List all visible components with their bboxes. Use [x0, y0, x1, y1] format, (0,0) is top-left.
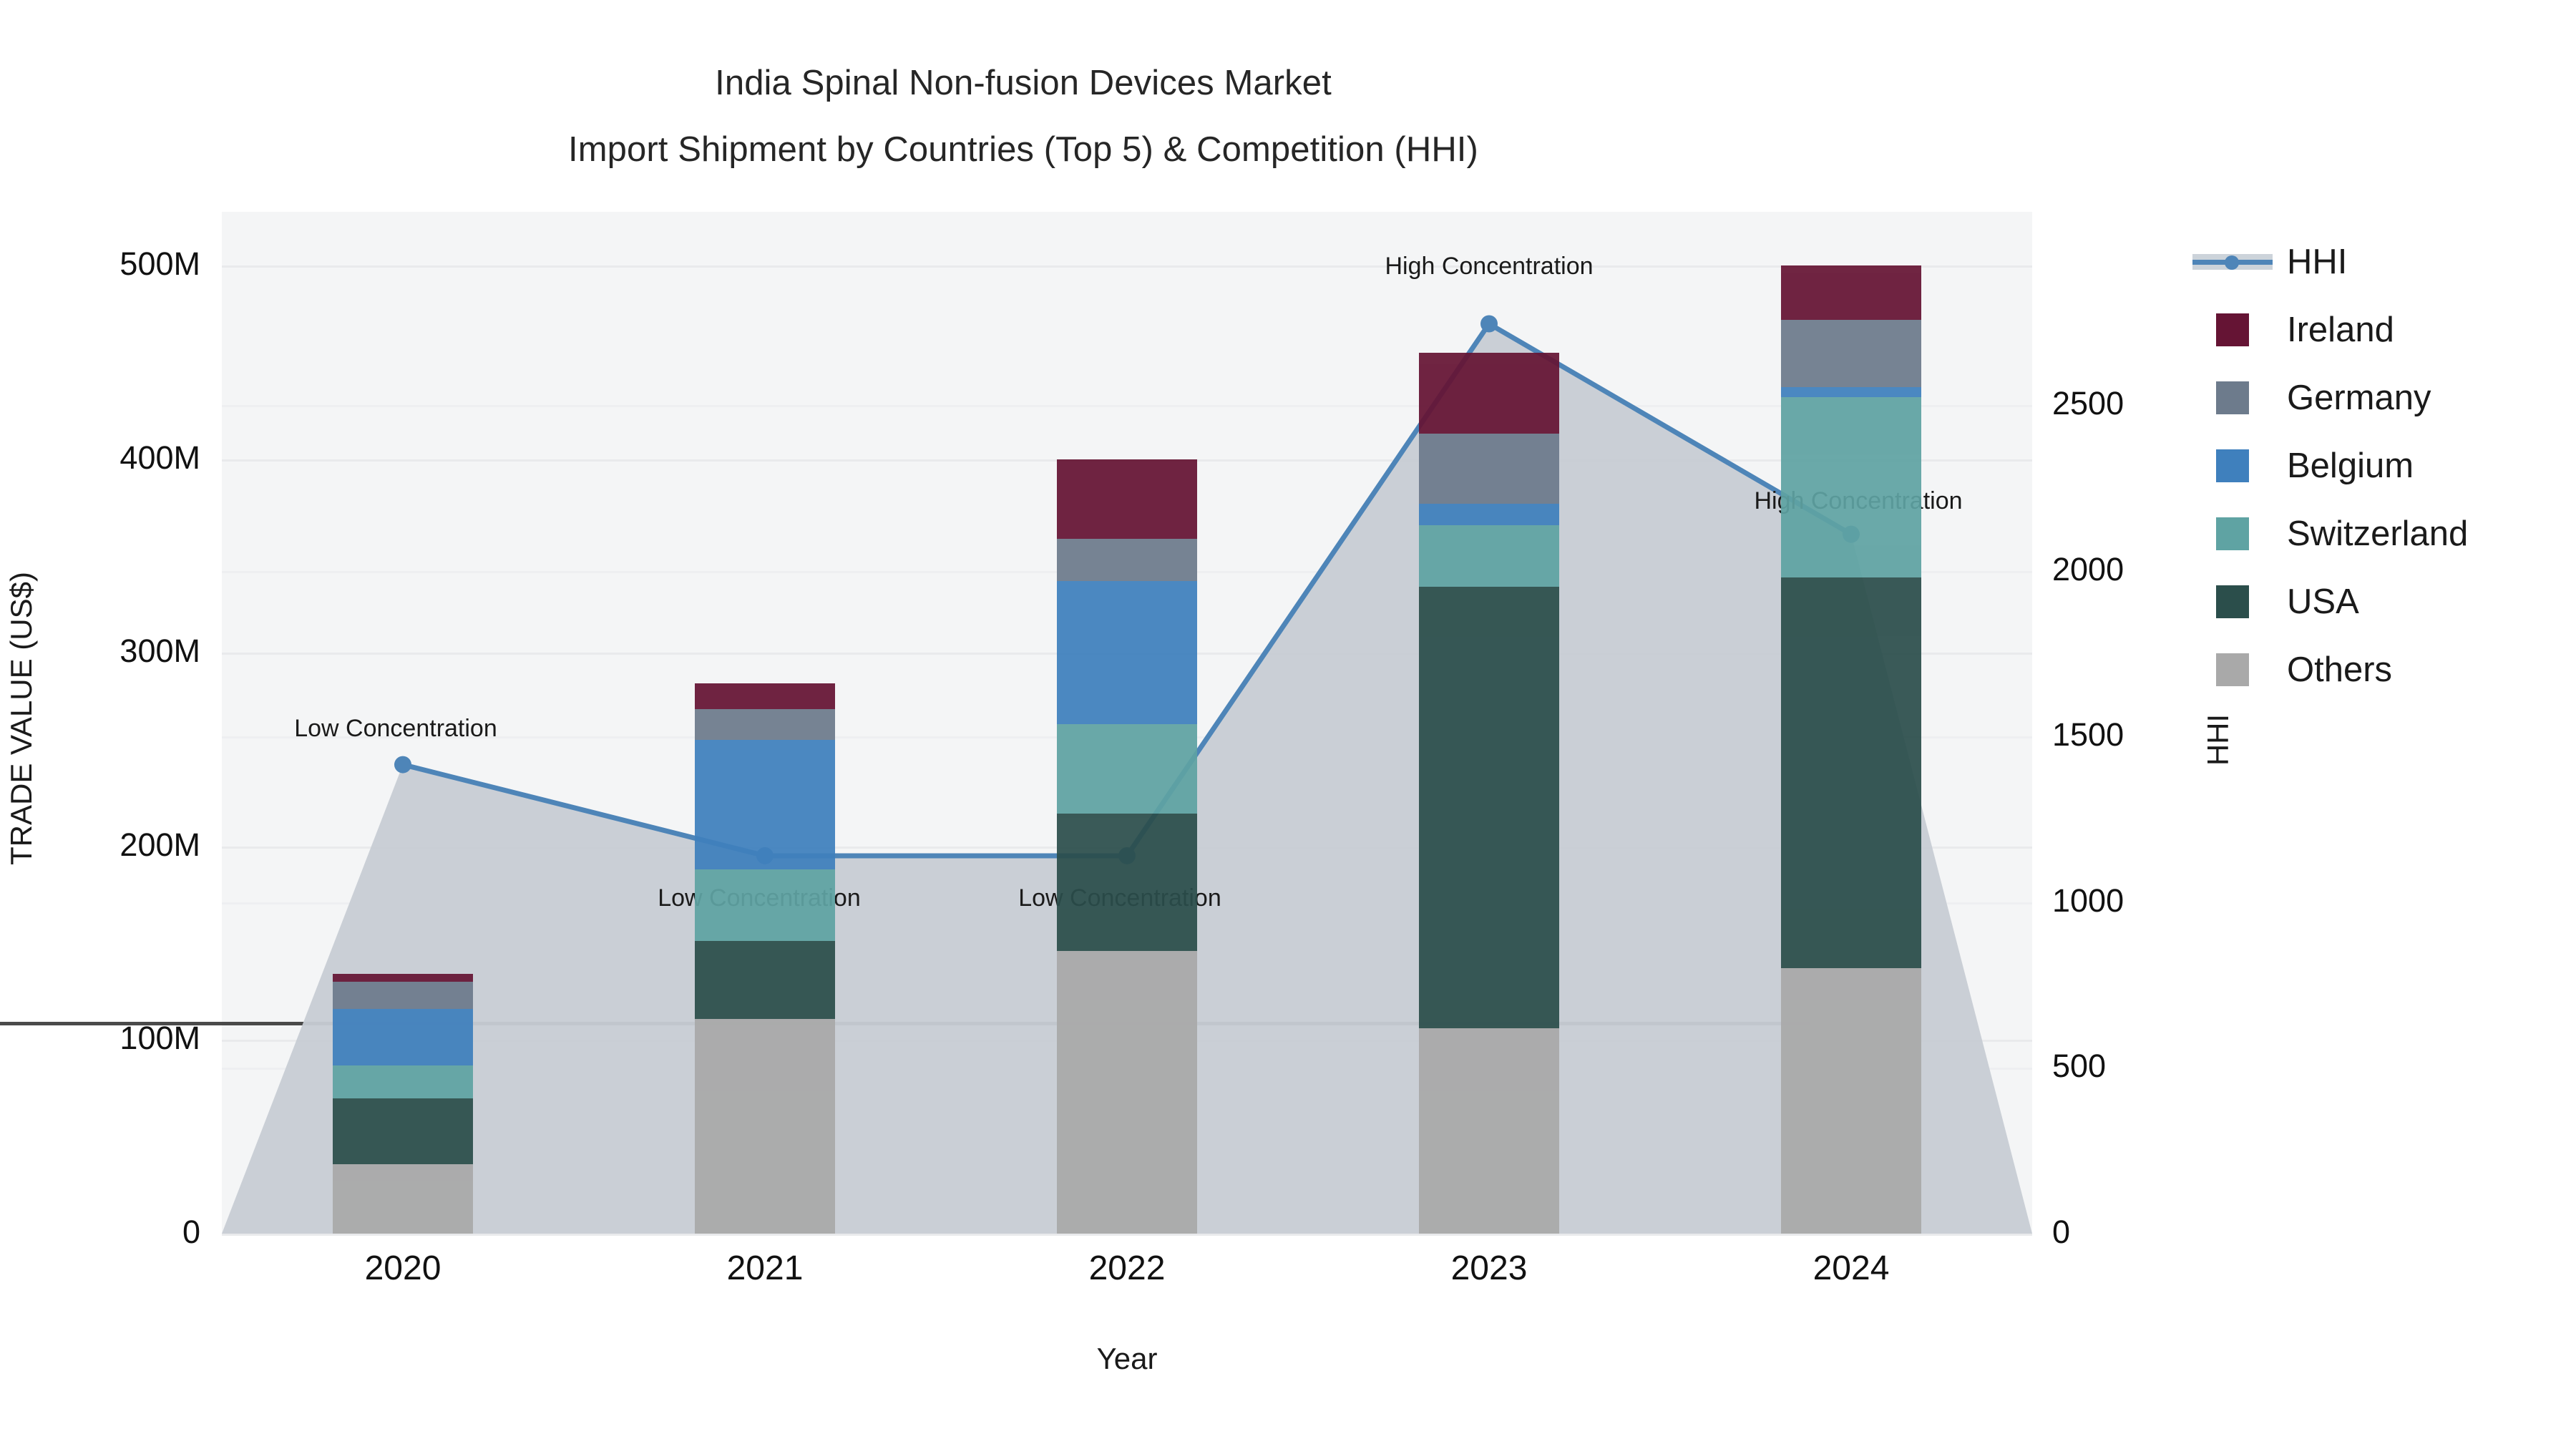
legend-key	[2190, 653, 2275, 686]
bar-segment-ireland[interactable]	[1781, 265, 1921, 320]
legend-label: USA	[2287, 582, 2359, 622]
y-axis-title: TRADE VALUE (US$)	[4, 489, 39, 947]
bar-segment-switzerland[interactable]	[695, 869, 835, 941]
bar-segment-switzerland[interactable]	[1781, 397, 1921, 577]
bar-segment-switzerland[interactable]	[1419, 525, 1559, 587]
legend-label: Germany	[2287, 378, 2431, 418]
bar-segment-germany[interactable]	[695, 709, 835, 740]
legend-swatch-others	[2216, 653, 2249, 686]
legend-item-hhi[interactable]: HHI	[2190, 228, 2468, 296]
gridline-major	[222, 1234, 2032, 1236]
bar-segment-ireland[interactable]	[333, 974, 473, 982]
legend-item-switzerland[interactable]: Switzerland	[2190, 499, 2468, 567]
x-tick-label: 2024	[1744, 1249, 1958, 1288]
legend-swatch-belgium	[2216, 449, 2249, 482]
legend-label: Ireland	[2287, 310, 2394, 350]
bar-segment-others[interactable]	[695, 1019, 835, 1234]
legend-key	[2190, 381, 2275, 414]
y-tick-label: 0	[14, 1214, 200, 1251]
bar-segment-ireland[interactable]	[695, 683, 835, 708]
legend-item-ireland[interactable]: Ireland	[2190, 296, 2468, 364]
legend-key	[2190, 585, 2275, 618]
bar-segment-usa[interactable]	[695, 941, 835, 1018]
y2-tick-label: 500	[2052, 1048, 2238, 1085]
bar-segment-others[interactable]	[1419, 1028, 1559, 1234]
chart-figure: India Spinal Non-fusion Devices Market I…	[0, 0, 2576, 1449]
legend-line-marker	[2225, 255, 2239, 270]
x-tick-label: 2022	[1020, 1249, 1234, 1288]
y-tick-label: 200M	[14, 826, 200, 864]
bar-segment-ireland[interactable]	[1057, 459, 1197, 539]
bar-segment-usa[interactable]	[1057, 814, 1197, 951]
bar-group[interactable]	[333, 0, 473, 1234]
bar-group[interactable]	[1419, 0, 1559, 1234]
chart-title-block: India Spinal Non-fusion Devices Market I…	[0, 50, 2046, 183]
legend-item-belgium[interactable]: Belgium	[2190, 431, 2468, 499]
bar-segment-germany[interactable]	[1419, 434, 1559, 503]
bar-segment-belgium[interactable]	[333, 1009, 473, 1065]
bar-segment-germany[interactable]	[333, 982, 473, 1009]
bar-segment-usa[interactable]	[1419, 587, 1559, 1028]
bar-segment-others[interactable]	[333, 1164, 473, 1234]
legend-line-key	[2192, 245, 2273, 278]
legend-label: Others	[2287, 650, 2392, 690]
y-tick-label: 300M	[14, 633, 200, 670]
legend-label: HHI	[2287, 242, 2347, 282]
legend-item-germany[interactable]: Germany	[2190, 364, 2468, 431]
legend-key	[2190, 313, 2275, 346]
bar-segment-belgium[interactable]	[1419, 504, 1559, 525]
bar-segment-usa[interactable]	[1781, 577, 1921, 969]
legend-item-others[interactable]: Others	[2190, 635, 2468, 703]
y2-tick-label: 0	[2052, 1214, 2238, 1251]
chart-legend: HHIIrelandGermanyBelgiumSwitzerlandUSAOt…	[2190, 228, 2468, 703]
legend-swatch-usa	[2216, 585, 2249, 618]
bar-segment-switzerland[interactable]	[1057, 724, 1197, 813]
bar-segment-belgium[interactable]	[1781, 387, 1921, 397]
legend-swatch-switzerland	[2216, 517, 2249, 550]
bar-segment-germany[interactable]	[1781, 320, 1921, 388]
x-tick-label: 2021	[658, 1249, 872, 1288]
legend-key	[2190, 449, 2275, 482]
legend-item-usa[interactable]: USA	[2190, 567, 2468, 635]
legend-key	[2190, 517, 2275, 550]
bar-segment-others[interactable]	[1057, 951, 1197, 1234]
bar-group[interactable]	[695, 0, 835, 1234]
legend-swatch-ireland	[2216, 313, 2249, 346]
x-tick-label: 2023	[1382, 1249, 1596, 1288]
y2-tick-label: 1000	[2052, 882, 2238, 919]
legend-swatch-germany	[2216, 381, 2249, 414]
bar-segment-others[interactable]	[1781, 968, 1921, 1234]
legend-label: Belgium	[2287, 446, 2414, 486]
bar-segment-switzerland[interactable]	[333, 1065, 473, 1098]
bar-segment-belgium[interactable]	[1057, 581, 1197, 724]
bar-segment-usa[interactable]	[333, 1098, 473, 1164]
legend-key	[2190, 245, 2275, 278]
chart-title: India Spinal Non-fusion Devices Market	[0, 50, 2046, 117]
legend-label: Switzerland	[2287, 514, 2468, 554]
bar-group[interactable]	[1057, 0, 1197, 1234]
y-tick-label: 400M	[14, 439, 200, 477]
bar-segment-ireland[interactable]	[1419, 353, 1559, 434]
x-tick-label: 2020	[296, 1249, 510, 1288]
bar-segment-belgium[interactable]	[695, 740, 835, 869]
bar-segment-germany[interactable]	[1057, 539, 1197, 582]
bar-group[interactable]	[1781, 0, 1921, 1234]
y-tick-label: 100M	[14, 1020, 200, 1057]
x-axis-title: Year	[222, 1342, 2032, 1376]
y-tick-label: 500M	[14, 245, 200, 283]
chart-subtitle: Import Shipment by Countries (Top 5) & C…	[0, 117, 2046, 183]
